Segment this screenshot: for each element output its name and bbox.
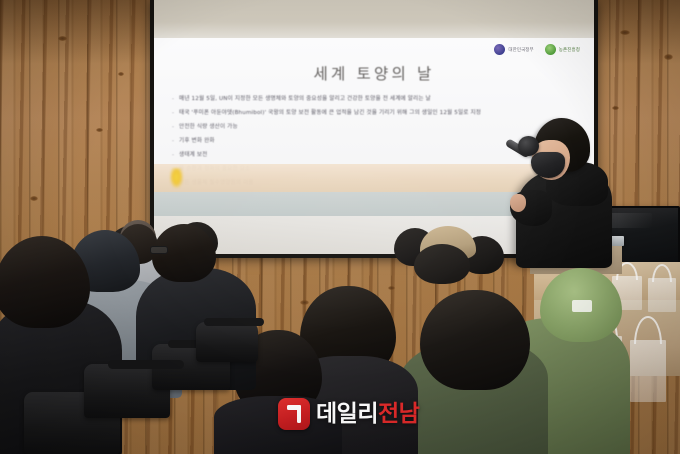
chair-armrest xyxy=(108,360,184,369)
wood-knot xyxy=(300,300,309,305)
bullet-marker: - xyxy=(172,124,174,130)
slide-logo-row: 대한민국정부 농촌진흥청 xyxy=(494,44,580,55)
government-emblem-logo: 대한민국정부 xyxy=(494,44,533,55)
daily-jeonnam-logo-icon xyxy=(278,398,310,430)
bullet-text: 태국 '푸미폰 아둔야뎃(Bhumibol)' 국왕의 토양 보전 활동에 큰 … xyxy=(179,110,481,116)
shopping-bag xyxy=(648,278,676,312)
government-emblem-label: 대한민국정부 xyxy=(508,47,533,53)
publisher-watermark: 데일리전남 xyxy=(278,398,419,430)
speaker-hand xyxy=(510,194,526,212)
sprout-glow xyxy=(170,168,183,188)
wood-knot xyxy=(96,128,103,132)
bullet-marker: - xyxy=(172,96,174,102)
shopping-bag xyxy=(630,340,666,402)
watermark-text-accent: 전남 xyxy=(378,401,419,427)
bullet-text: 매년 12월 5일, UN이 지정한 모든 생명체와 토양의 중요성을 알리고 … xyxy=(179,96,431,102)
eyeglasses-icon xyxy=(150,246,168,254)
bullet-marker: - xyxy=(172,110,174,116)
sprout-illustration-icon xyxy=(170,168,183,188)
attendee-head-large xyxy=(420,290,530,390)
screen-top-band xyxy=(154,0,594,40)
government-emblem-icon xyxy=(494,44,505,55)
wood-knot xyxy=(118,72,124,76)
bullet-text: 기후 변화 완화 xyxy=(179,138,215,144)
rural-agency-logo: 농촌진흥청 xyxy=(545,44,580,55)
microphone-icon xyxy=(518,136,539,156)
wood-knot xyxy=(388,286,395,290)
rural-agency-label: 농촌진흥청 xyxy=(559,47,580,53)
bullet-marker: - xyxy=(172,152,174,158)
slide-bullet: - 태국 '푸미폰 아둔야뎃(Bhumibol)' 국왕의 토양 보전 활동에 … xyxy=(172,110,578,116)
photograph-canvas: 대한민국정부 농촌진흥청 세계 토양의 날 - 매년 12월 5일, UN이 지… xyxy=(0,0,680,454)
lecture-speaker xyxy=(498,118,618,268)
audience-chair xyxy=(196,322,258,362)
watermark-text: 데일리전남 xyxy=(316,403,419,426)
beanie-brand-tag xyxy=(572,300,592,312)
bullet-marker: - xyxy=(172,138,174,144)
wood-knot xyxy=(30,196,38,201)
chair-armrest xyxy=(204,318,264,326)
attendee-tan-cap-head xyxy=(414,244,470,284)
rural-agency-icon xyxy=(545,44,556,55)
watermark-text-primary: 데일리 xyxy=(316,401,378,427)
bullet-text: 생태계 보전 xyxy=(179,152,207,158)
slide-title: 세계 토양의 날 xyxy=(154,62,594,84)
bullet-text: 안전한 식량 생산이 가능 xyxy=(179,124,238,130)
wood-knot xyxy=(612,106,619,110)
slide-bullet: - 매년 12월 5일, UN이 지정한 모든 생명체와 토양의 중요성을 알리… xyxy=(172,96,578,102)
